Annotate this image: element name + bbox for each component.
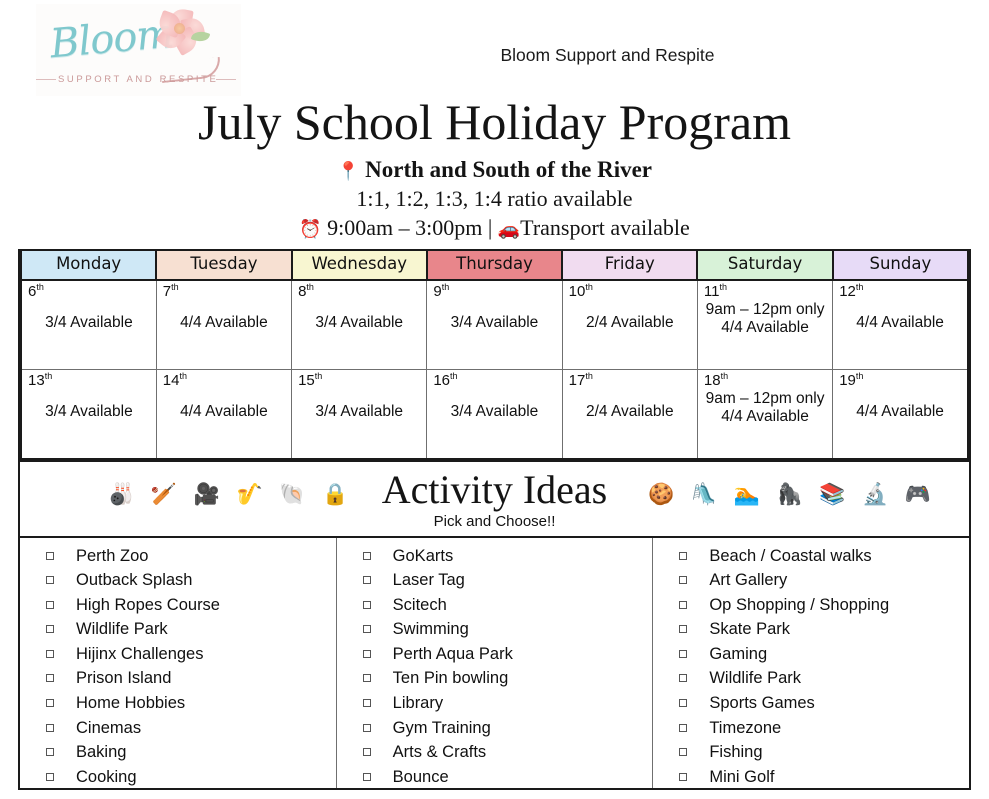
activity-label: Scitech <box>393 596 447 614</box>
checkbox-bullet-icon <box>363 724 371 732</box>
transport-text: Transport available <box>520 215 690 240</box>
hours-transport-line: ⏰ 9:00am – 3:00pm | 🚗Transport available <box>0 215 989 241</box>
checkbox-bullet-icon <box>46 625 54 633</box>
calendar-header-row: MondayTuesdayWednesdayThursdayFridaySatu… <box>21 250 968 280</box>
activity-label: Beach / Coastal walks <box>709 547 871 565</box>
checkbox-bullet-icon <box>363 625 371 633</box>
calendar-day-cell[interactable]: 16th3/4 Available <box>427 369 562 459</box>
calendar-day-cell[interactable]: 11th9am – 12pm only4/4 Available <box>697 280 832 370</box>
activity-list-item[interactable]: Library <box>363 691 653 716</box>
calendar-header-saturday: Saturday <box>697 250 832 280</box>
activity-list-item[interactable]: Home Hobbies <box>46 691 336 716</box>
activity-label: Skate Park <box>709 620 790 638</box>
calendar-day-cell[interactable]: 19th4/4 Available <box>833 369 968 459</box>
calendar-day-note: 9am – 12pm only <box>704 300 826 319</box>
activity-label: Arts & Crafts <box>393 743 487 761</box>
activity-lists: Perth ZooOutback SplashHigh Ropes Course… <box>18 538 971 790</box>
activity-list: Perth ZooOutback SplashHigh Ropes Course… <box>20 544 336 790</box>
calendar-day-ordinal: th <box>719 282 727 292</box>
activity-label: Perth Zoo <box>76 547 148 565</box>
activity-ideas-subtitle: Pick and Choose!! <box>20 513 969 530</box>
checkbox-bullet-icon <box>363 674 371 682</box>
activity-list-item[interactable]: Mini Golf <box>679 765 969 790</box>
checkbox-bullet-icon <box>363 601 371 609</box>
activity-label: Fishing <box>709 743 762 761</box>
calendar-day-number: 15th <box>298 372 420 390</box>
calendar-day-cell[interactable]: 18th9am – 12pm only4/4 Available <box>697 369 832 459</box>
activity-label: Baking <box>76 743 126 761</box>
activity-list-item[interactable]: GoKarts <box>363 544 653 569</box>
checkbox-bullet-icon <box>679 576 687 584</box>
calendar-header-friday: Friday <box>562 250 697 280</box>
hours-text: 9:00am – 3:00pm <box>327 215 482 240</box>
calendar-day-number: 14th <box>163 372 285 390</box>
activity-label: Wildlife Park <box>709 669 801 687</box>
activity-list-item[interactable]: Prison Island <box>46 666 336 691</box>
activity-label: Gaming <box>709 645 767 663</box>
calendar-day-cell[interactable]: 17th2/4 Available <box>562 369 697 459</box>
activity-label: Outback Splash <box>76 571 192 589</box>
checkbox-bullet-icon <box>679 650 687 658</box>
calendar-day-availability: 2/4 Available <box>569 403 691 421</box>
activity-list-item[interactable]: Cooking <box>46 765 336 790</box>
activity-column: GoKartsLaser TagScitechSwimmingPerth Aqu… <box>336 538 653 788</box>
car-icon: 🚗 <box>498 219 520 240</box>
calendar-day-availability: 4/4 Available <box>163 314 285 332</box>
checkbox-bullet-icon <box>46 650 54 658</box>
activity-label: Perth Aqua Park <box>393 645 513 663</box>
activity-list-item[interactable]: Laser Tag <box>363 568 653 593</box>
checkbox-bullet-icon <box>363 650 371 658</box>
activity-label: Op Shopping / Shopping <box>709 596 889 614</box>
calendar-day-ordinal: th <box>315 371 323 381</box>
activity-list-item[interactable]: Outback Splash <box>46 568 336 593</box>
calendar-day-number: 11th <box>704 283 826 301</box>
calendar-day-number: 6th <box>28 283 150 301</box>
activity-label: GoKarts <box>393 547 454 565</box>
calendar-day-cell[interactable]: 13th3/4 Available <box>21 369 156 459</box>
activity-label: Sports Games <box>709 694 814 712</box>
calendar-day-note: 9am – 12pm only <box>704 389 826 408</box>
calendar-day-number: 7th <box>163 283 285 301</box>
calendar-day-availability: 4/4 Available <box>839 403 961 421</box>
calendar-day-cell[interactable]: 14th4/4 Available <box>156 369 291 459</box>
calendar-day-ordinal: th <box>306 282 314 292</box>
calendar-day-number: 13th <box>28 372 150 390</box>
page-header: Bloom SUPPORT AND RESPITE Bloom Support … <box>0 0 989 96</box>
activity-label: High Ropes Course <box>76 596 220 614</box>
calendar-day-cell[interactable]: 12th4/4 Available <box>833 280 968 370</box>
activity-list-item[interactable]: Scitech <box>363 593 653 618</box>
logo-tagline: SUPPORT AND RESPITE <box>58 74 218 85</box>
calendar-day-ordinal: th <box>856 282 864 292</box>
activity-list-item[interactable]: Wildlife Park <box>679 666 969 691</box>
activity-list-item[interactable]: Perth Zoo <box>46 544 336 569</box>
logo-rule-right <box>216 79 236 80</box>
activity-list-item[interactable]: Gaming <box>679 642 969 667</box>
calendar-day-availability: 3/4 Available <box>433 314 555 332</box>
checkbox-bullet-icon <box>363 748 371 756</box>
activity-list-item[interactable]: Timezone <box>679 716 969 741</box>
checkbox-bullet-icon <box>363 773 371 781</box>
activity-emoji-row-right: 🍪 🛝 🏊 🦍 📚 🔬 🎮 <box>648 482 936 507</box>
activity-list-item[interactable]: Op Shopping / Shopping <box>679 593 969 618</box>
calendar-header-tuesday: Tuesday <box>156 250 291 280</box>
calendar-day-ordinal: th <box>585 282 593 292</box>
checkbox-bullet-icon <box>46 674 54 682</box>
ratio-line: 1:1, 1:2, 1:3, 1:4 ratio available <box>0 186 989 212</box>
activity-label: Ten Pin bowling <box>393 669 509 687</box>
activity-list-item[interactable]: Sports Games <box>679 691 969 716</box>
activity-list-item[interactable]: Perth Aqua Park <box>363 642 653 667</box>
activity-label: Art Gallery <box>709 571 787 589</box>
calendar-day-number: 12th <box>839 283 961 301</box>
calendar-day-availability: 4/4 Available <box>163 403 285 421</box>
activity-list: Beach / Coastal walksArt GalleryOp Shopp… <box>653 544 969 790</box>
calendar-day-cell[interactable]: 10th2/4 Available <box>562 280 697 370</box>
activity-label: Swimming <box>393 620 469 638</box>
calendar-day-cell[interactable]: 9th3/4 Available <box>427 280 562 370</box>
checkbox-bullet-icon <box>46 576 54 584</box>
checkbox-bullet-icon <box>46 773 54 781</box>
calendar-day-number: 17th <box>569 372 691 390</box>
activity-list-item[interactable]: Hijinx Challenges <box>46 642 336 667</box>
activity-list-item[interactable]: Baking <box>46 740 336 765</box>
activity-label: Cooking <box>76 768 137 786</box>
calendar-table-wrapper: MondayTuesdayWednesdayThursdayFridaySatu… <box>18 249 971 462</box>
activity-label: Bounce <box>393 768 449 786</box>
calendar-day-ordinal: th <box>179 371 187 381</box>
calendar-day-number: 10th <box>569 283 691 301</box>
calendar-day-ordinal: th <box>36 282 44 292</box>
calendar-day-number: 19th <box>839 372 961 390</box>
checkbox-bullet-icon <box>363 699 371 707</box>
activity-list-item[interactable]: Bounce <box>363 765 653 790</box>
location-text: North and South of the River <box>365 157 652 182</box>
activity-label: Prison Island <box>76 669 171 687</box>
activity-label: Library <box>393 694 443 712</box>
calendar-day-ordinal: th <box>856 371 864 381</box>
calendar-day-ordinal: th <box>171 282 179 292</box>
activity-list-item[interactable]: Arts & Crafts <box>363 740 653 765</box>
calendar-header-sunday: Sunday <box>833 250 968 280</box>
checkbox-bullet-icon <box>46 748 54 756</box>
calendar-week-row: 13th3/4 Available14th4/4 Available15th3/… <box>21 369 968 459</box>
checkbox-bullet-icon <box>679 748 687 756</box>
calendar-table: MondayTuesdayWednesdayThursdayFridaySatu… <box>20 249 969 460</box>
calendar-day-availability: 3/4 Available <box>298 314 420 332</box>
activity-list-item[interactable]: Skate Park <box>679 617 969 642</box>
checkbox-bullet-icon <box>679 674 687 682</box>
calendar-day-ordinal: th <box>45 371 53 381</box>
activity-label: Hijinx Challenges <box>76 645 203 663</box>
activity-ideas-banner: 🎳 🏏 🎥 🎷 🐚 🔒 🍪 🛝 🏊 🦍 📚 🔬 🎮 Activity Ideas… <box>18 462 971 538</box>
activity-list-item[interactable]: Ten Pin bowling <box>363 666 653 691</box>
calendar-day-number: 9th <box>433 283 555 301</box>
activity-label: Wildlife Park <box>76 620 168 638</box>
calendar-day-number: 18th <box>704 372 826 390</box>
calendar-day-availability: 3/4 Available <box>28 314 150 332</box>
checkbox-bullet-icon <box>46 552 54 560</box>
activity-list: GoKartsLaser TagScitechSwimmingPerth Aqu… <box>337 544 653 790</box>
activity-column: Perth ZooOutback SplashHigh Ropes Course… <box>20 538 336 788</box>
activity-label: Cinemas <box>76 719 141 737</box>
checkbox-bullet-icon <box>679 773 687 781</box>
calendar-day-availability: 2/4 Available <box>569 314 691 332</box>
calendar-day-availability: 3/4 Available <box>298 403 420 421</box>
calendar-day-cell[interactable]: 15th3/4 Available <box>292 369 427 459</box>
calendar-day-availability: 4/4 Available <box>839 314 961 332</box>
calendar-day-ordinal: th <box>585 371 593 381</box>
checkbox-bullet-icon <box>46 724 54 732</box>
activity-list-item[interactable]: Fishing <box>679 740 969 765</box>
round-pushpin-icon: 📍 <box>337 161 359 182</box>
activity-list-item[interactable]: High Ropes Course <box>46 593 336 618</box>
activity-label: Timezone <box>709 719 781 737</box>
activity-list-item[interactable]: Gym Training <box>363 716 653 741</box>
calendar-day-cell[interactable]: 7th4/4 Available <box>156 280 291 370</box>
activity-list-item[interactable]: Beach / Coastal walks <box>679 544 969 569</box>
activity-list-item[interactable]: Art Gallery <box>679 568 969 593</box>
checkbox-bullet-icon <box>363 552 371 560</box>
checkbox-bullet-icon <box>363 576 371 584</box>
activity-list-item[interactable]: Swimming <box>363 617 653 642</box>
activity-label: Gym Training <box>393 719 491 737</box>
calendar-day-number: 8th <box>298 283 420 301</box>
activity-label: Mini Golf <box>709 768 774 786</box>
calendar-header-thursday: Thursday <box>427 250 562 280</box>
calendar-header-wednesday: Wednesday <box>292 250 427 280</box>
calendar-day-availability: 4/4 Available <box>704 319 826 337</box>
checkbox-bullet-icon <box>46 699 54 707</box>
calendar-day-ordinal: th <box>721 371 729 381</box>
alarm-clock-icon: ⏰ <box>299 219 321 240</box>
calendar-week-row: 6th3/4 Available7th4/4 Available8th3/4 A… <box>21 280 968 370</box>
calendar-day-availability: 4/4 Available <box>704 408 826 426</box>
page-title: July School Holiday Program <box>0 96 989 149</box>
activity-list-item[interactable]: Cinemas <box>46 716 336 741</box>
logo-rule-left <box>36 79 56 80</box>
calendar-day-ordinal: th <box>450 371 458 381</box>
activity-column: Beach / Coastal walksArt GalleryOp Shopp… <box>652 538 969 788</box>
checkbox-bullet-icon <box>679 601 687 609</box>
calendar-day-availability: 3/4 Available <box>433 403 555 421</box>
calendar-day-availability: 3/4 Available <box>28 403 150 421</box>
checkbox-bullet-icon <box>679 552 687 560</box>
location-line: 📍 North and South of the River <box>0 157 989 183</box>
calendar-day-number: 16th <box>433 372 555 390</box>
activity-label: Home Hobbies <box>76 694 185 712</box>
checkbox-bullet-icon <box>46 601 54 609</box>
calendar-header-monday: Monday <box>21 250 156 280</box>
organisation-name: Bloom Support and Respite <box>0 45 989 66</box>
activity-emoji-row-left: 🎳 🏏 🎥 🎷 🐚 🔒 <box>108 482 353 507</box>
checkbox-bullet-icon <box>679 724 687 732</box>
calendar-day-cell[interactable]: 8th3/4 Available <box>292 280 427 370</box>
calendar-day-ordinal: th <box>442 282 450 292</box>
activity-list-item[interactable]: Wildlife Park <box>46 617 336 642</box>
calendar-day-cell[interactable]: 6th3/4 Available <box>21 280 156 370</box>
line-separator: | <box>488 215 492 240</box>
activity-label: Laser Tag <box>393 571 465 589</box>
checkbox-bullet-icon <box>679 625 687 633</box>
checkbox-bullet-icon <box>679 699 687 707</box>
